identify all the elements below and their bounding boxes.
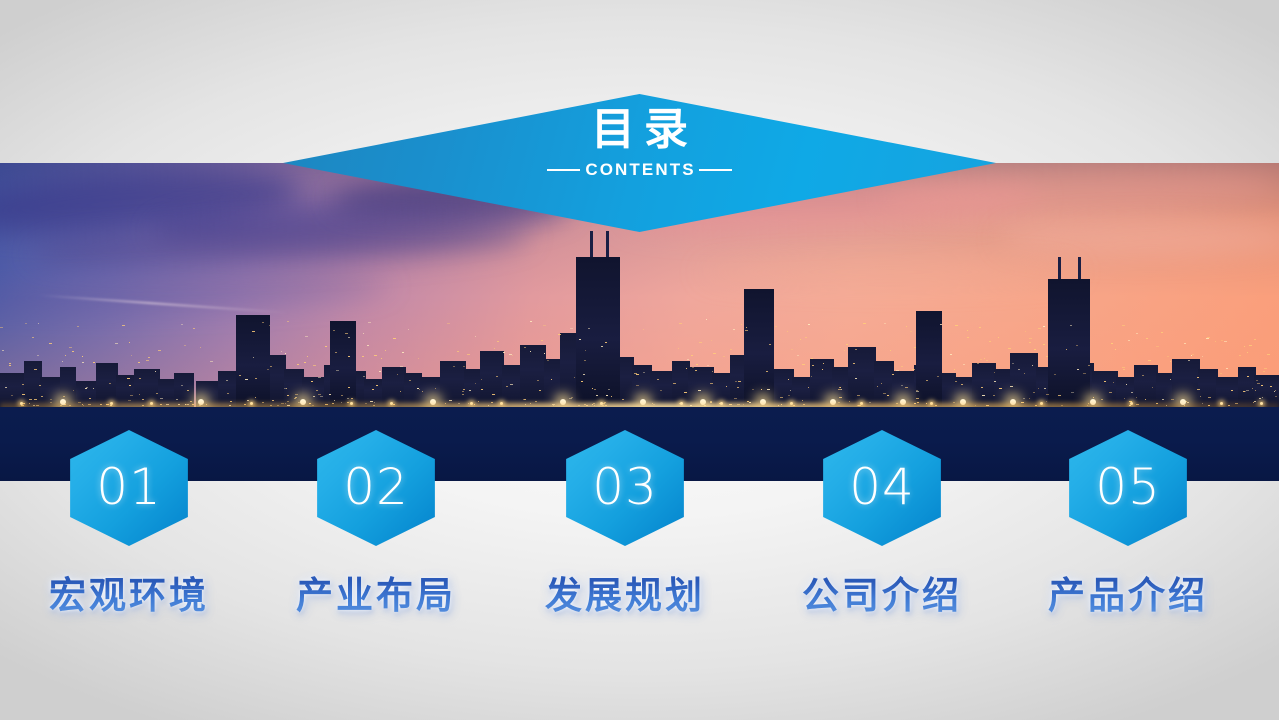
item-label: 发展规划 xyxy=(510,565,740,619)
item-number: 05 xyxy=(1095,462,1161,512)
contents-item-01[interactable]: 01宏观环境 xyxy=(14,430,244,619)
hexagon-badge[interactable]: 05 xyxy=(1064,430,1192,546)
item-number: 04 xyxy=(849,462,915,512)
hexagon-badge[interactable]: 03 xyxy=(561,430,689,546)
item-label: 宏观环境 xyxy=(14,565,244,619)
item-label: 公司介绍 xyxy=(767,565,997,619)
contents-item-02[interactable]: 02产业布局 xyxy=(261,430,491,619)
item-number: 03 xyxy=(592,462,658,512)
item-label: 产品介绍 xyxy=(1013,565,1243,619)
hexagon-badge[interactable]: 04 xyxy=(818,430,946,546)
item-number: 01 xyxy=(96,462,162,512)
hexagon-badge[interactable]: 02 xyxy=(312,430,440,546)
presentation-slide: 目录 CONTENTS 01宏观环境02产业布局03发展规划04公司介绍05产品… xyxy=(0,0,1279,720)
contents-list: 01宏观环境02产业布局03发展规划04公司介绍05产品介绍 xyxy=(0,0,1279,720)
contents-item-04[interactable]: 04公司介绍 xyxy=(767,430,997,619)
item-number: 02 xyxy=(343,462,409,512)
hexagon-badge[interactable]: 01 xyxy=(65,430,193,546)
item-label: 产业布局 xyxy=(261,565,491,619)
contents-item-03[interactable]: 03发展规划 xyxy=(510,430,740,619)
contents-item-05[interactable]: 05产品介绍 xyxy=(1013,430,1243,619)
